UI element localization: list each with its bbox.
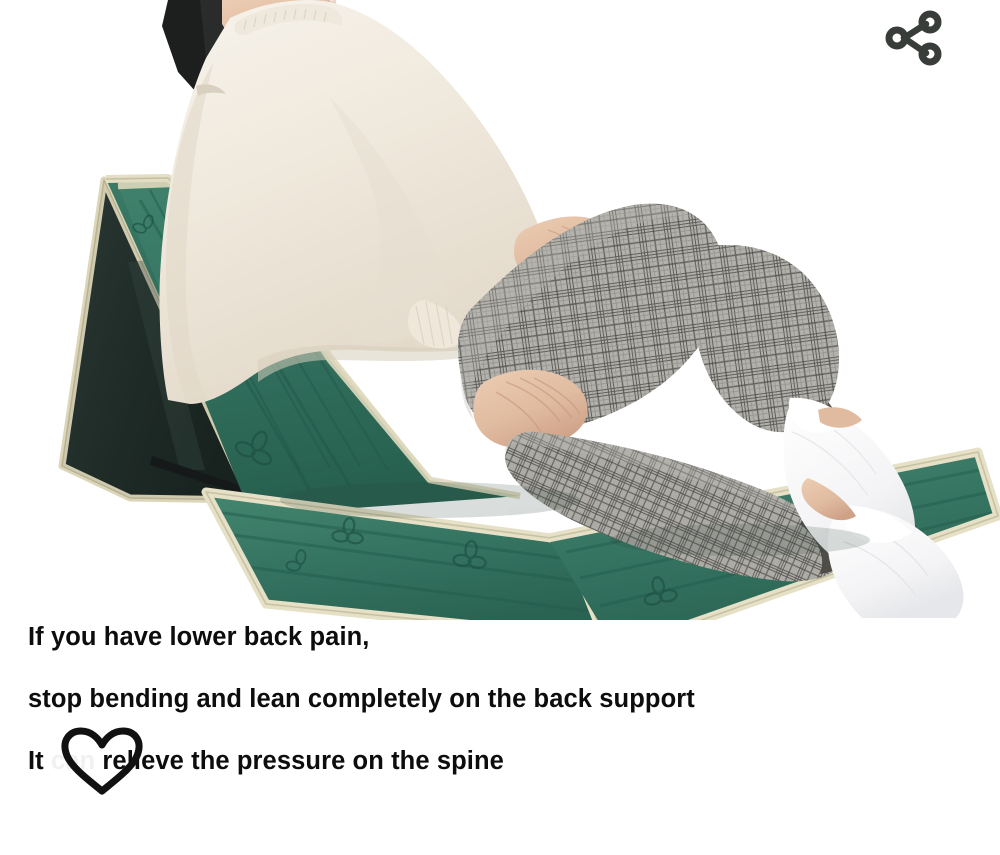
heart-outline-icon[interactable] — [60, 727, 144, 797]
favorite-button[interactable] — [60, 727, 144, 797]
caption-line-1: If you have lower back pain, — [28, 623, 369, 652]
share-button[interactable] — [882, 9, 944, 67]
caption-block: If you have lower back pain, stop bendin… — [0, 606, 1000, 855]
caption-line-3-prefix: It — [28, 747, 51, 775]
product-image-screen: If you have lower back pain, stop bendin… — [0, 0, 1000, 855]
product-photo[interactable] — [0, 0, 1000, 620]
caption-line-3-suffix: relieve the pressure on the spine — [95, 747, 504, 775]
share-icon[interactable] — [882, 9, 944, 67]
product-photo-illustration — [0, 0, 1000, 620]
caption-line-2: stop bending and lean completely on the … — [28, 685, 695, 714]
